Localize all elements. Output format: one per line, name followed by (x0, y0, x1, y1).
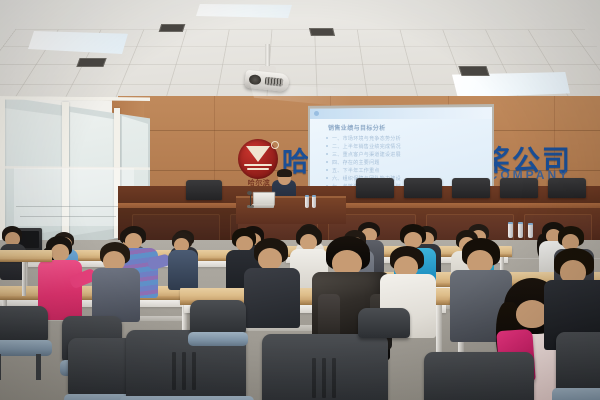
projector-lens-icon (249, 74, 262, 85)
presenter-hair (277, 169, 292, 177)
glass-reflection (14, 168, 134, 226)
slide-bullet: 四、存在的主要问题 (332, 159, 380, 166)
water-bottle[interactable] (528, 223, 533, 238)
stage-chair[interactable] (186, 180, 222, 200)
slide-bullet: 一、市场环境与竞争态势分析 (332, 135, 401, 142)
water-bottle[interactable] (508, 222, 513, 238)
stage-chair[interactable] (404, 178, 442, 198)
ceiling-vent (159, 24, 186, 32)
slide-bullet: 三、重点客户与渠道建设进展 (332, 151, 401, 158)
slide-bullet: 二、上半年销售业绩完成情况 (332, 143, 401, 150)
microphone-icon (247, 191, 252, 195)
slide-bullet: 五、下半年工作重点 (332, 167, 380, 174)
ceiling-light-panel (196, 4, 292, 18)
ceiling-vent (458, 66, 489, 76)
company-logo-icon (238, 139, 278, 179)
ceiling-vent (76, 58, 106, 67)
stage-chair[interactable] (356, 178, 394, 198)
projector-vent (265, 77, 284, 87)
desk-side-left (0, 250, 52, 290)
water-bottle[interactable] (518, 222, 523, 238)
window-mullion (0, 98, 5, 246)
logo-stripe (244, 164, 272, 166)
stage-chair[interactable] (500, 178, 538, 198)
logo-stripe (247, 168, 269, 170)
water-bottle[interactable] (305, 195, 309, 208)
trademark-icon (271, 141, 279, 149)
slide-title: 销售业绩与目标分析 (328, 123, 386, 132)
logo-chevron-shape (246, 146, 270, 162)
microphone-stem (250, 194, 251, 206)
stage-chair[interactable] (548, 178, 586, 198)
water-bottle[interactable] (312, 195, 316, 208)
laptop-keyboard (252, 204, 274, 208)
laptop[interactable] (252, 192, 274, 208)
slide-header-band (310, 108, 492, 119)
slide-header-dot (314, 111, 319, 116)
seminar-room-photo: 哈尔滨 哈尔 管桨公司 ORT COMPANY 销售业绩与目标分析 一、市场环境… (0, 0, 600, 400)
stage-chair[interactable] (452, 178, 490, 198)
ceiling-vent (309, 28, 335, 36)
